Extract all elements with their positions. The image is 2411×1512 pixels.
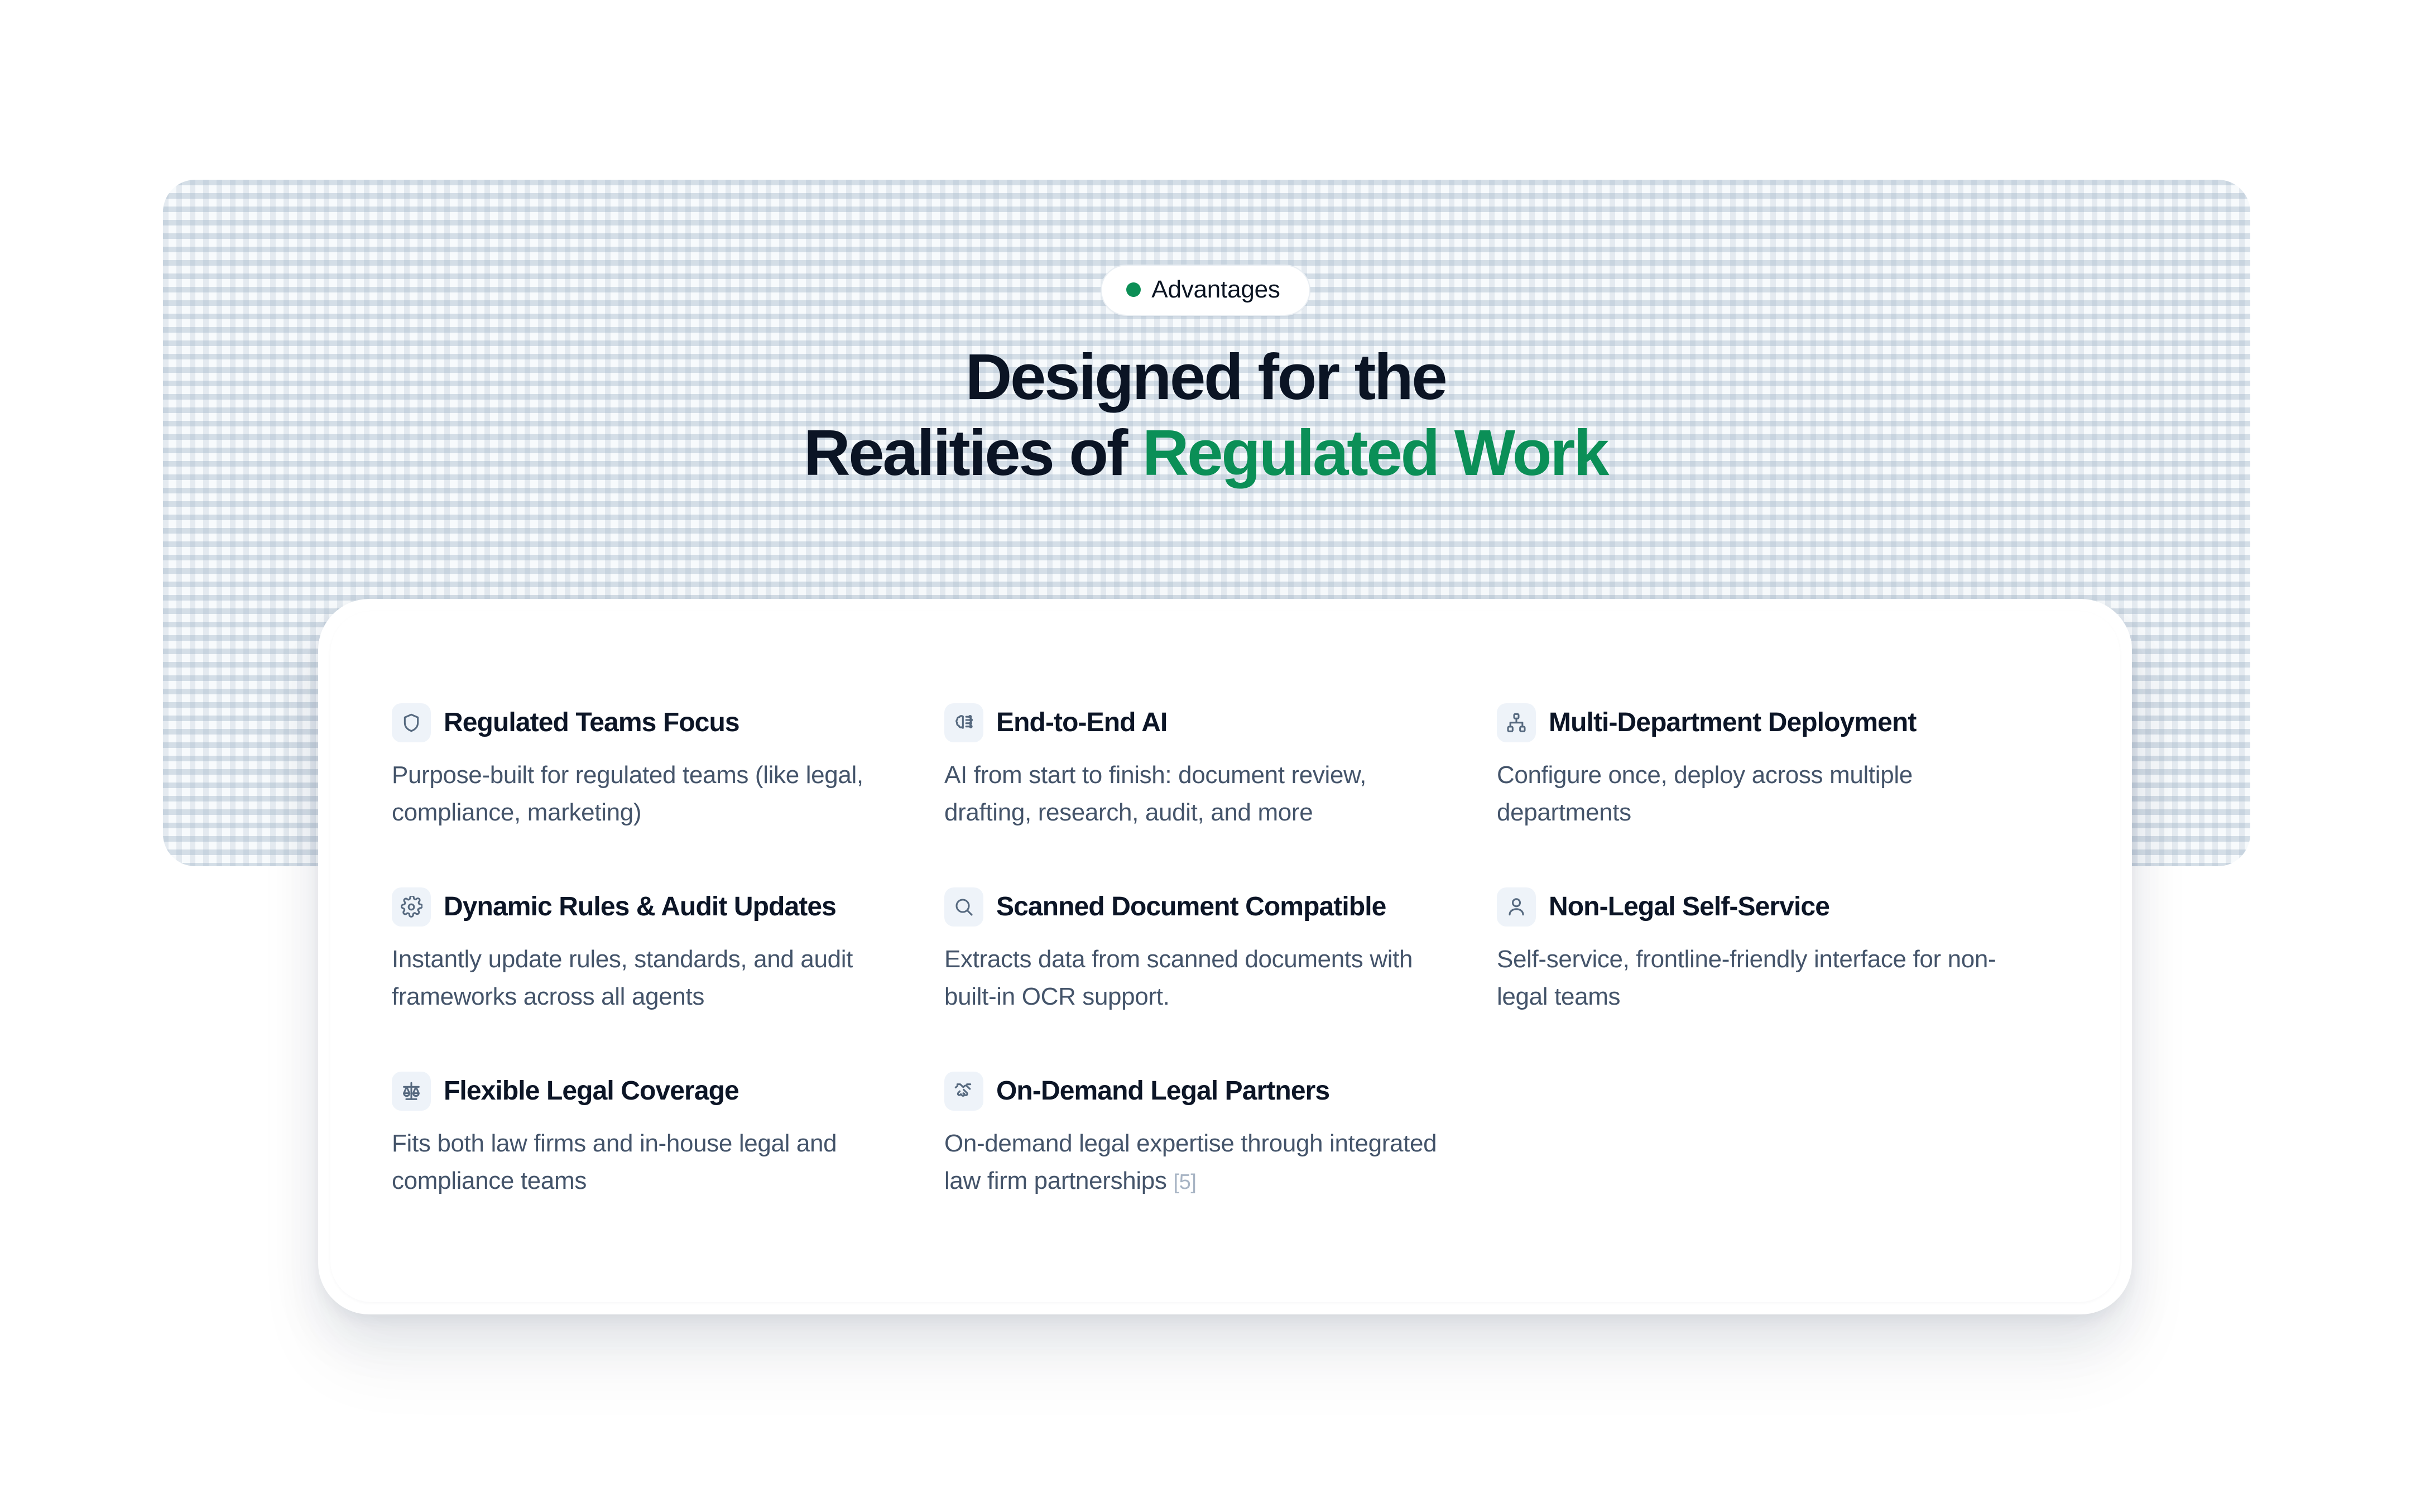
feature-title: End-to-End AI bbox=[996, 708, 1167, 738]
feature-item[interactable]: Multi-Department Deployment Configure on… bbox=[1497, 703, 2061, 887]
page-title-line-2: Realities of Regulated Work bbox=[0, 415, 2411, 491]
feature-description: Instantly update rules, standards, and a… bbox=[392, 941, 894, 1016]
feature-description-text: Fits both law firms and in-house legal a… bbox=[392, 1130, 837, 1194]
badge-container: Advantages bbox=[0, 265, 2411, 316]
feature-header: Scanned Document Compatible bbox=[944, 887, 1447, 927]
feature-item[interactable]: Flexible Legal Coverage Fits both law fi… bbox=[392, 1072, 944, 1256]
feature-title: Regulated Teams Focus bbox=[444, 708, 739, 738]
feature-item[interactable]: Non-Legal Self-Service Self-service, fro… bbox=[1497, 887, 2061, 1072]
page-title-accent: Regulated Work bbox=[1142, 416, 1607, 489]
user-icon bbox=[1497, 887, 1536, 927]
page-root: Advantages Designed for the Realities of… bbox=[0, 0, 2411, 1512]
feature-header: Non-Legal Self-Service bbox=[1497, 887, 2010, 927]
feature-description: Self-service, frontline-friendly interfa… bbox=[1497, 941, 1999, 1016]
scales-icon bbox=[392, 1072, 431, 1111]
feature-description-text: Self-service, frontline-friendly interfa… bbox=[1497, 945, 1996, 1010]
features-card-outer: Regulated Teams Focus Purpose-built for … bbox=[318, 599, 2132, 1314]
advantages-badge[interactable]: Advantages bbox=[1101, 265, 1310, 316]
feature-description-text: Extracts data from scanned documents wit… bbox=[944, 945, 1413, 1010]
page-title: Designed for the Realities of Regulated … bbox=[0, 339, 2411, 491]
feature-description-text: Configure once, deploy across multiple d… bbox=[1497, 761, 1913, 826]
feature-item[interactable]: End-to-End AI AI from start to finish: d… bbox=[944, 703, 1497, 887]
feature-description-text: Instantly update rules, standards, and a… bbox=[392, 945, 853, 1010]
search-icon bbox=[944, 887, 983, 927]
feature-description: Purpose-built for regulated teams (like … bbox=[392, 757, 894, 832]
page-title-line-1: Designed for the bbox=[0, 339, 2411, 415]
feature-item[interactable]: Scanned Document Compatible Extracts dat… bbox=[944, 887, 1497, 1072]
feature-item[interactable]: Regulated Teams Focus Purpose-built for … bbox=[392, 703, 944, 887]
feature-title: Multi-Department Deployment bbox=[1549, 708, 1916, 738]
advantages-badge-label: Advantages bbox=[1151, 277, 1280, 302]
feature-description: On-demand legal expertise through integr… bbox=[944, 1125, 1447, 1200]
feature-description-text: Purpose-built for regulated teams (like … bbox=[392, 761, 863, 826]
feature-description-text: AI from start to finish: document review… bbox=[944, 761, 1366, 826]
feature-item[interactable]: Dynamic Rules & Audit Updates Instantly … bbox=[392, 887, 944, 1072]
feature-description: Configure once, deploy across multiple d… bbox=[1497, 757, 1999, 832]
feature-header: Flexible Legal Coverage bbox=[392, 1072, 894, 1111]
feature-header: Multi-Department Deployment bbox=[1497, 703, 2010, 742]
gear-icon bbox=[392, 887, 431, 927]
feature-title: Non-Legal Self-Service bbox=[1549, 892, 1829, 922]
citation-marker[interactable]: [5] bbox=[1173, 1170, 1196, 1194]
shield-icon bbox=[392, 703, 431, 742]
feature-description: AI from start to finish: document review… bbox=[944, 757, 1447, 832]
features-grid: Regulated Teams Focus Purpose-built for … bbox=[392, 703, 2061, 1256]
brain-icon bbox=[944, 703, 983, 742]
handshake-icon bbox=[944, 1072, 983, 1111]
feature-item[interactable]: On-Demand Legal Partners On-demand legal… bbox=[944, 1072, 1497, 1256]
feature-title: On-Demand Legal Partners bbox=[996, 1077, 1329, 1106]
page-title-line-2-prefix: Realities of bbox=[804, 416, 1142, 489]
feature-description: Fits both law firms and in-house legal a… bbox=[392, 1125, 894, 1200]
feature-header: Dynamic Rules & Audit Updates bbox=[392, 887, 894, 927]
feature-title: Scanned Document Compatible bbox=[996, 892, 1386, 922]
feature-header: Regulated Teams Focus bbox=[392, 703, 894, 742]
org-chart-icon bbox=[1497, 703, 1536, 742]
feature-header: End-to-End AI bbox=[944, 703, 1447, 742]
status-dot-icon bbox=[1126, 282, 1141, 297]
feature-title: Flexible Legal Coverage bbox=[444, 1077, 739, 1106]
feature-description: Extracts data from scanned documents wit… bbox=[944, 941, 1447, 1016]
feature-title: Dynamic Rules & Audit Updates bbox=[444, 892, 836, 922]
features-card: Regulated Teams Focus Purpose-built for … bbox=[330, 611, 2120, 1302]
feature-header: On-Demand Legal Partners bbox=[944, 1072, 1447, 1111]
